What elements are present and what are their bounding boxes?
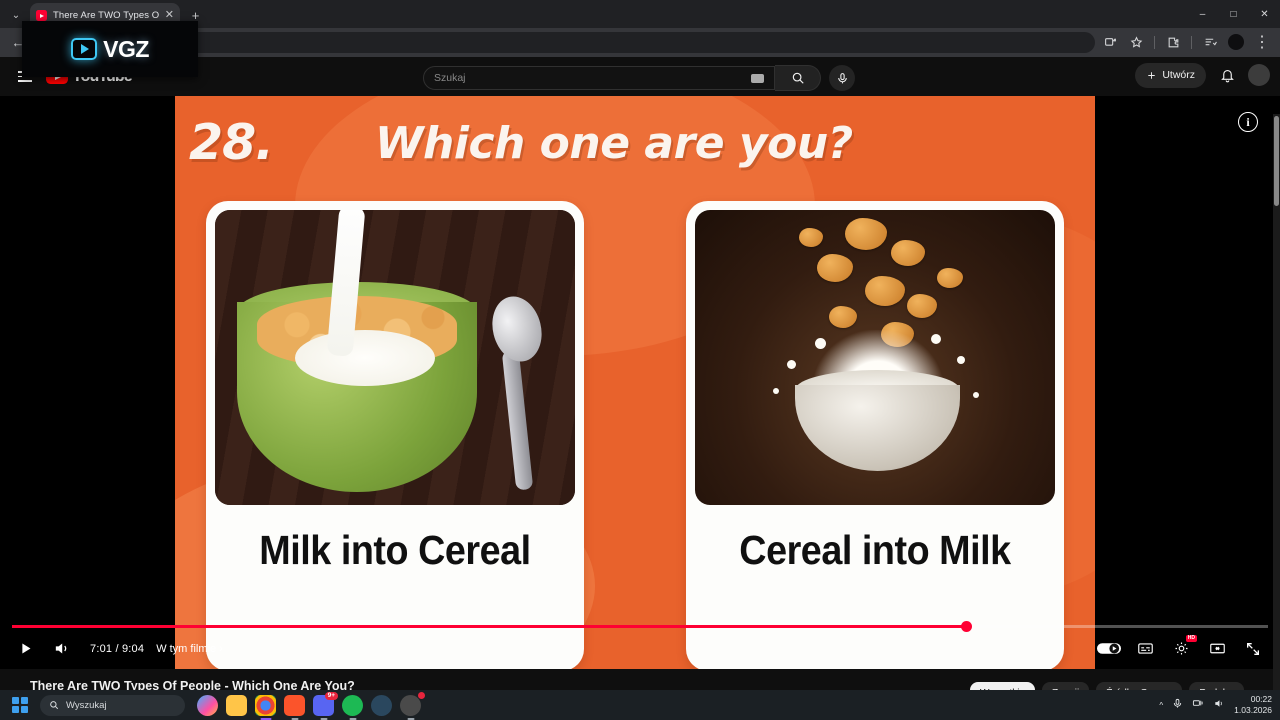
address-bar[interactable]: =EJ0E8fErFns	[60, 32, 1095, 53]
app-badge	[418, 692, 425, 699]
toolbar-divider-2	[1191, 36, 1192, 49]
question-number: 28.	[189, 114, 273, 171]
youtube-search-area	[423, 65, 855, 91]
account-avatar[interactable]	[1248, 64, 1270, 86]
reading-list-icon[interactable]	[1198, 30, 1222, 54]
option-card-right: Cereal into Milk	[686, 201, 1064, 669]
cast-icon[interactable]	[1098, 30, 1122, 54]
discord-badge: 9+	[325, 692, 338, 701]
youtube-header-right: Utwórz	[1135, 62, 1270, 88]
keyboard-icon[interactable]	[751, 74, 764, 83]
play-button[interactable]	[8, 632, 42, 666]
discord-icon[interactable]: 9+	[313, 695, 334, 716]
minimize-button[interactable]: –	[1187, 0, 1218, 28]
option-left-label: Milk into Cereal	[229, 527, 560, 574]
screen: ⌄ There Are TWO Types Of Peopl ✕ + – □ ✕…	[0, 0, 1280, 720]
recommendations-sidebar: Wszystkie Z serii Źródło: Guessr Podobn …	[965, 677, 1280, 690]
notifications-bell-icon[interactable]	[1214, 62, 1240, 88]
search-input[interactable]	[434, 72, 751, 84]
chevron-right-icon: ›	[219, 643, 223, 655]
subtitles-icon[interactable]	[1128, 632, 1162, 666]
video-frame: 28. Which one are you?	[175, 96, 1095, 669]
browser-toolbar-icons: ⋮	[1098, 30, 1274, 54]
app-icon[interactable]	[400, 695, 421, 716]
scrollbar-thumb[interactable]	[1274, 116, 1279, 206]
video-player[interactable]: 28. Which one are you?	[0, 96, 1280, 669]
close-window-button[interactable]: ✕	[1249, 0, 1280, 28]
browser-tab-title: There Are TWO Types Of Peopl	[53, 10, 159, 21]
chip-series[interactable]: Z serii	[1042, 682, 1089, 690]
option-right-label: Cereal into Milk	[709, 527, 1040, 574]
chip-source[interactable]: Źródło: Guessr	[1096, 682, 1182, 690]
spotify-icon[interactable]	[342, 695, 363, 716]
taskbar-apps: 9+	[197, 695, 421, 716]
extensions-icon[interactable]	[1161, 30, 1185, 54]
clock-date: 1.03.2026	[1234, 705, 1272, 716]
file-explorer-icon[interactable]	[226, 695, 247, 716]
chapter-label: W tym filmie	[156, 643, 216, 655]
vgz-logo-text: VGZ	[103, 36, 149, 63]
chip-all[interactable]: Wszystkie	[970, 682, 1035, 690]
taskbar-search[interactable]: Wyszukaj	[40, 695, 185, 716]
taskbar-clock[interactable]: 00:22 1.03.2026	[1234, 694, 1272, 715]
page-scrollbar[interactable]	[1273, 114, 1280, 690]
start-button[interactable]	[12, 697, 28, 713]
show-hidden-icons[interactable]: ^	[1159, 701, 1163, 710]
player-controls-left: 7:01 / 9:04 W tym filmie ›	[8, 632, 223, 666]
chrome-icon[interactable]	[255, 695, 276, 716]
time-display: 7:01 / 9:04	[90, 643, 144, 655]
bookmark-star-icon[interactable]	[1124, 30, 1148, 54]
taskbar-search-placeholder: Wyszukaj	[66, 700, 107, 711]
option-card-left: Milk into Cereal	[206, 201, 584, 669]
brave-icon[interactable]	[284, 695, 305, 716]
player-controls-right: HD	[1092, 632, 1270, 666]
taskbar-tray: ^ 00:22 1.03.2026	[1159, 694, 1272, 715]
copilot-icon[interactable]	[197, 695, 218, 716]
vgz-overlay: VGZ	[22, 21, 198, 77]
network-icon[interactable]	[1192, 696, 1204, 714]
fullscreen-icon[interactable]	[1236, 632, 1270, 666]
option-right-image	[695, 210, 1055, 505]
filter-chips: Wszystkie Z serii Źródło: Guessr Podobn …	[970, 682, 1257, 690]
option-left-image	[215, 210, 575, 505]
create-button[interactable]: Utwórz	[1135, 63, 1206, 88]
autoplay-toggle[interactable]	[1092, 632, 1126, 666]
chip-related[interactable]: Podobn	[1189, 682, 1243, 690]
create-button-label: Utwórz	[1162, 69, 1195, 81]
vgz-play-icon	[71, 38, 97, 60]
voice-search-icon[interactable]	[829, 65, 855, 91]
toolbar-divider	[1154, 36, 1155, 49]
chapter-button[interactable]: W tym filmie ›	[156, 643, 223, 655]
maximize-button[interactable]: □	[1218, 0, 1249, 28]
steam-icon[interactable]	[371, 695, 392, 716]
settings-hd-badge: HD	[1186, 635, 1197, 642]
page-title: There Are TWO Types Of People - Which On…	[30, 679, 355, 690]
close-icon[interactable]: ✕	[165, 10, 174, 21]
clock-time: 00:22	[1234, 694, 1272, 705]
info-icon[interactable]: i	[1238, 112, 1258, 132]
profile-avatar[interactable]	[1224, 30, 1248, 54]
window-controls: – □ ✕	[1187, 0, 1280, 28]
question-title: Which one are you?	[375, 118, 853, 169]
search-input-wrapper[interactable]	[423, 66, 775, 90]
volume-icon[interactable]	[44, 632, 78, 666]
windows-taskbar: Wyszukaj 9+ ^	[0, 690, 1280, 720]
settings-gear-icon[interactable]: HD	[1164, 632, 1198, 666]
microphone-icon[interactable]	[1172, 696, 1183, 714]
player-controls: 7:01 / 9:04 W tym filmie ›	[0, 628, 1280, 669]
youtube-favicon-icon	[36, 10, 47, 21]
search-button[interactable]	[775, 65, 821, 91]
volume-tray-icon[interactable]	[1213, 696, 1225, 714]
theater-mode-icon[interactable]	[1200, 632, 1234, 666]
chrome-menu-icon[interactable]: ⋮	[1250, 30, 1274, 54]
youtube-page: YouTube PL	[0, 57, 1280, 690]
